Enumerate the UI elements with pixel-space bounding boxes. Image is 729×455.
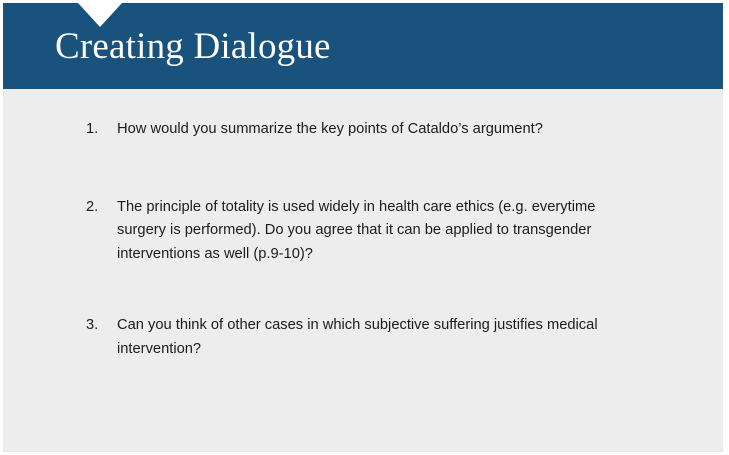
list-item-text: The principle of totality is used widely… — [117, 196, 646, 267]
list-item: 2. The principle of totality is used wid… — [86, 196, 646, 267]
chevron-notch-icon — [78, 3, 122, 27]
question-list: 1. How would you summarize the key point… — [86, 118, 646, 361]
list-item-text: How would you summarize the key points o… — [117, 118, 646, 142]
list-item-marker: 2. — [86, 196, 117, 220]
list-item: 3. Can you think of other cases in which… — [86, 314, 646, 361]
page-title: Creating Dialogue — [55, 26, 331, 69]
list-item-marker: 1. — [86, 118, 117, 142]
list-item-text: Can you think of other cases in which su… — [117, 314, 646, 361]
list-item: 1. How would you summarize the key point… — [86, 118, 646, 142]
list-item-marker: 3. — [86, 314, 117, 338]
presentation-slide: Creating Dialogue 1. How would you summa… — [0, 0, 729, 455]
